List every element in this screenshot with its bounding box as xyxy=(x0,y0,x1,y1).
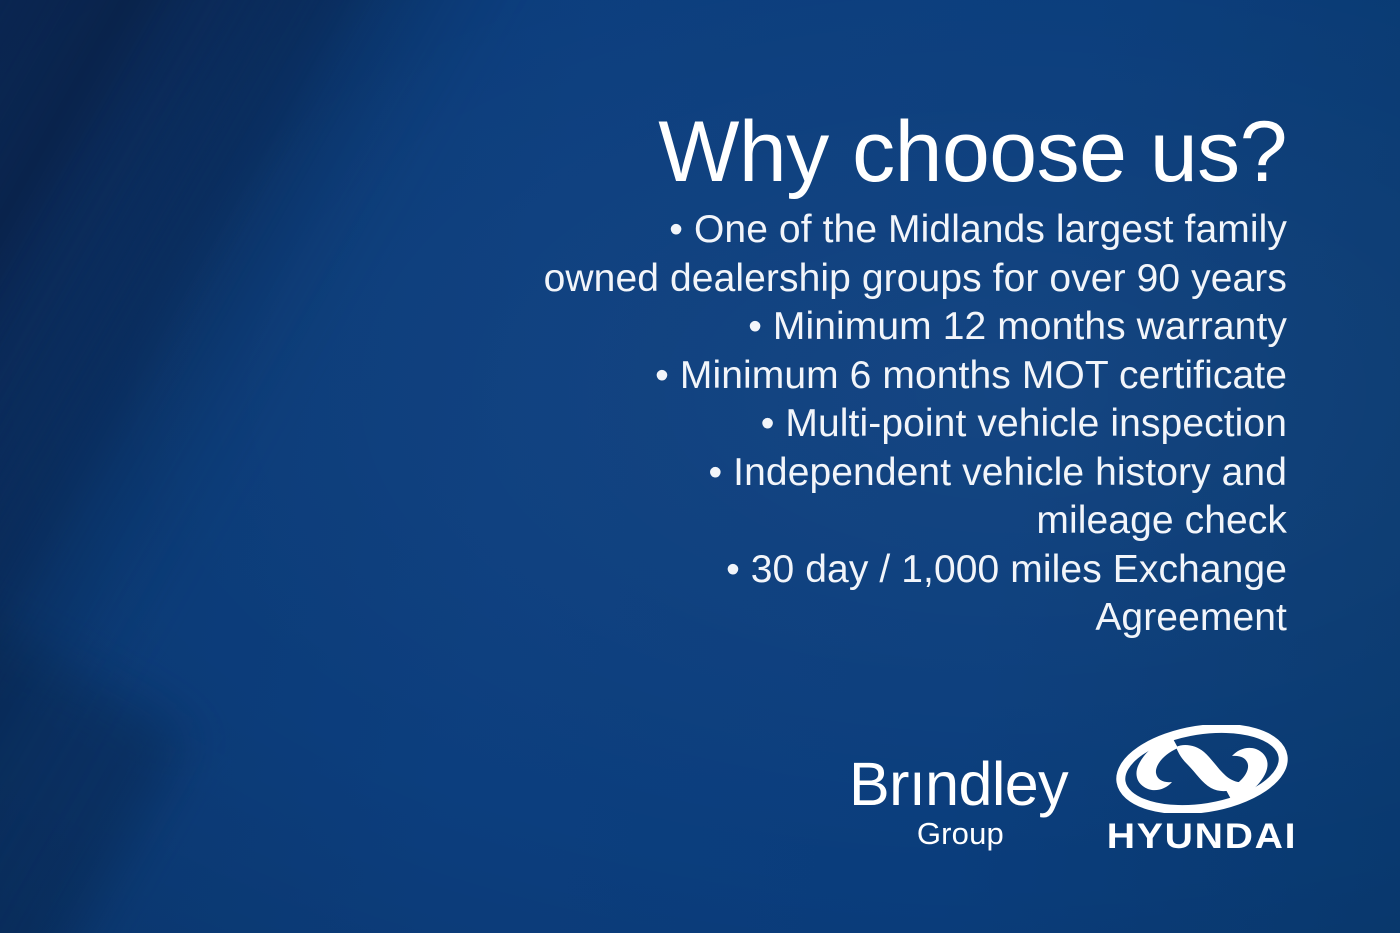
list-item: • Minimum 6 months MOT certificate xyxy=(457,352,1287,401)
hyundai-wordmark: HYUNDAI xyxy=(1107,819,1297,855)
list-item: • Multi-point vehicle inspection xyxy=(457,400,1287,449)
list-item: Agreement xyxy=(457,594,1287,643)
list-item: • 30 day / 1,000 miles Exchange xyxy=(457,546,1287,595)
brindley-wordmark: Brındley xyxy=(849,753,1068,815)
list-item: • Independent vehicle history and xyxy=(457,449,1287,498)
page-title: Why choose us? xyxy=(427,107,1287,198)
slide-canvas: Why choose us? • One of the Midlands lar… xyxy=(0,0,1400,933)
benefits-list: • One of the Midlands largest family own… xyxy=(457,206,1287,643)
hyundai-ellipse-h-icon xyxy=(1114,725,1290,813)
brindley-subtitle: Group xyxy=(849,817,1004,851)
hyundai-logo: HYUNDAI xyxy=(1114,725,1290,855)
list-item: mileage check xyxy=(457,497,1287,546)
list-item: • One of the Midlands largest family xyxy=(457,206,1287,255)
list-item: owned dealership groups for over 90 year… xyxy=(457,255,1287,304)
slide-content: Why choose us? • One of the Midlands lar… xyxy=(0,0,1400,933)
list-item: • Minimum 12 months warranty xyxy=(457,303,1287,352)
logo-row: Brındley Group xyxy=(849,725,1290,855)
brindley-group-logo: Brındley Group xyxy=(849,753,1068,855)
